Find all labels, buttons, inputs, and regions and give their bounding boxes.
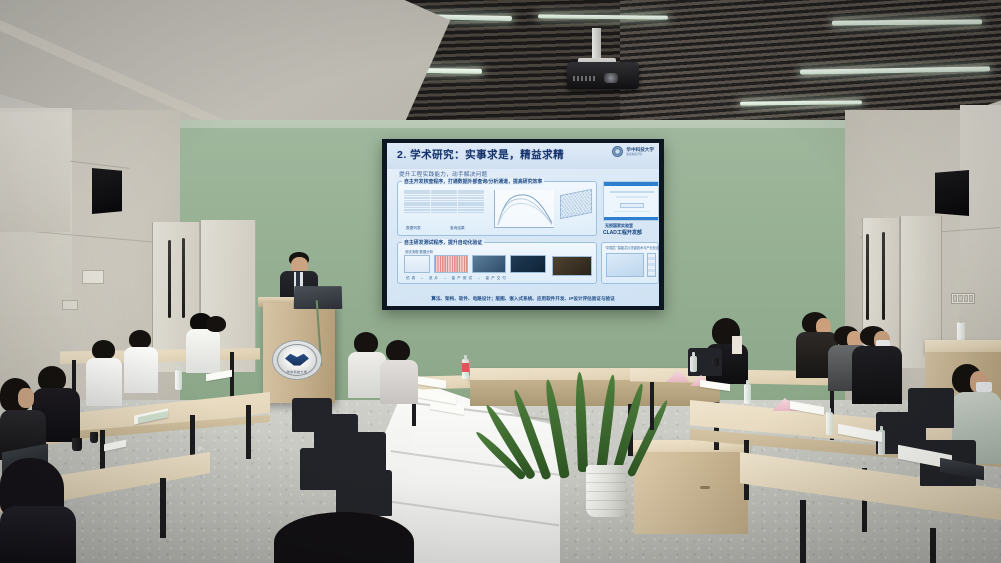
wall-speaker-left — [92, 168, 122, 214]
attendee-torso — [380, 360, 418, 404]
lectern-emblem: 华中科技大学 — [272, 340, 322, 380]
attendee-torso — [124, 347, 158, 393]
slide-table-caption-1: 数据列表 — [406, 226, 421, 231]
attendee — [852, 326, 904, 402]
slide-table-caption-2: 查询结果 — [450, 226, 465, 231]
slide-flow-labels: 仿真 → 流片 → 量产测试 → 量产交付 — [406, 276, 508, 281]
face-mask — [976, 382, 992, 392]
slide-footer: 算法、架构、软件、电路设计；版图、嵌入式系统、应用软件开发、IP设计评估验证与验… — [387, 296, 659, 302]
paper-cup[interactable] — [712, 358, 719, 367]
attendee — [124, 330, 160, 392]
attendee-torso — [852, 346, 902, 404]
light-switch-panel[interactable] — [951, 293, 975, 304]
bottle-label-red — [462, 363, 469, 372]
plant-pot-ridges — [586, 465, 626, 517]
projector-vent — [573, 76, 595, 81]
university-school: 集成电路学院 — [626, 153, 654, 156]
wall-outlet-plate[interactable] — [82, 270, 104, 284]
attendee-head — [18, 388, 34, 408]
slide-title: 2. 学术研究：实事求是，精益求精 — [397, 147, 564, 162]
slide-thumb-equipment — [472, 255, 506, 273]
paper-cup[interactable] — [90, 432, 98, 443]
water-bottle[interactable] — [175, 370, 182, 390]
projector-lens — [604, 73, 618, 83]
table-leg — [930, 528, 936, 563]
slide-sidebar-card — [603, 181, 659, 221]
attendee-torso — [86, 358, 122, 406]
attendee-torso — [0, 506, 76, 563]
hand-sanitizer-bottle[interactable] — [957, 322, 965, 342]
water-bottle[interactable] — [690, 356, 697, 372]
light-switch[interactable] — [964, 295, 968, 302]
slide-thumb-layout — [434, 255, 468, 273]
card-bottom-bar — [604, 217, 658, 220]
door-handle[interactable] — [182, 238, 185, 318]
light-switch[interactable] — [969, 295, 973, 302]
attendee — [380, 340, 420, 400]
plant-pot — [586, 465, 626, 517]
light-switch[interactable] — [958, 295, 962, 302]
center-back-table-apron — [470, 380, 720, 406]
slide-panel-2: 自主研发测试程序，提升自动化验证 测试流程 数据分析 仿真 → 流片 → 量产测… — [397, 242, 597, 284]
table-leg — [650, 382, 654, 430]
slide-thumb-lab — [552, 256, 592, 276]
center-cabinet-body — [634, 452, 748, 534]
attendee — [86, 340, 124, 404]
attendee-collar — [732, 336, 742, 354]
projection-screen-frame: 2. 学术研究：实事求是，精益求精 华中科技大学 集成电路学院 提升工程实践能力… — [382, 139, 664, 310]
door-handle[interactable] — [168, 240, 171, 318]
slide-sidebar-caption-line2: CLAD工程开发部 — [603, 229, 642, 236]
door-handle[interactable] — [882, 232, 885, 320]
table-leg — [160, 478, 166, 538]
light-switch[interactable] — [953, 295, 957, 302]
attendee — [196, 316, 236, 372]
university-seal-icon — [612, 146, 623, 157]
slide-panel-2-side: "中国芯" 智能芯片关键技术与产业化应用 — [601, 242, 659, 284]
university-name: 华中科技大学 — [626, 147, 654, 152]
attendee-hair — [274, 512, 414, 563]
slide-data-table — [404, 190, 484, 213]
water-bottle[interactable] — [744, 384, 751, 404]
card-top-bar — [604, 182, 658, 186]
slide-curve-chart — [494, 190, 554, 228]
projector-mount-pole — [592, 28, 601, 62]
slide-subtitle: 提升工程实践能力，动手解决问题 — [399, 170, 487, 178]
slide-panel-1-heading: 自主开发核查程序，打通数据外部查询/分析通道，提高研究效率 — [402, 178, 544, 185]
left-upper-panel — [0, 112, 70, 232]
lecture-room-photo: 2. 学术研究：实事求是，精益求精 华中科技大学 集成电路学院 提升工程实践能力… — [0, 0, 1001, 563]
slide-thumb-code — [404, 255, 430, 273]
emblem-text: 华中科技大学 — [287, 370, 307, 374]
attendee-hair — [354, 332, 378, 354]
attendee-hair — [386, 340, 410, 362]
foreground-attendee — [274, 512, 414, 563]
attendee-hair — [92, 340, 115, 360]
slide-panel-1: 自主开发核查程序，打通数据外部查询/分析通道，提高研究效率 数据列表 查询结果 — [397, 181, 597, 236]
door-handle[interactable] — [866, 234, 869, 320]
curve-chart-svg — [495, 190, 555, 228]
slide-mesh-surface — [560, 189, 592, 219]
water-bottle[interactable] — [826, 412, 833, 435]
projection-screen[interactable]: 2. 学术研究：实事求是，精益求精 华中科技大学 集成电路学院 提升工程实践能力… — [387, 143, 659, 306]
wall-speaker-right — [935, 170, 969, 216]
university-logo: 华中科技大学 集成电路学院 — [612, 146, 654, 157]
chair[interactable] — [336, 470, 392, 516]
wall-outlet-plate[interactable] — [62, 300, 78, 310]
slide-panel-2-heading: 自主研发测试程序，提升自动化验证 — [402, 239, 484, 246]
table-leg — [246, 405, 251, 459]
attendee-hair — [206, 316, 226, 332]
paper-cup[interactable] — [72, 438, 82, 451]
slide-panel2-mini-label: 测试流程 数据分析 — [405, 249, 433, 254]
slide-panel2-side-heading: "中国芯" 智能芯片关键技术与产业化应用 — [605, 245, 659, 250]
cabinet-handle[interactable] — [700, 486, 710, 489]
foreground-attendee — [0, 458, 76, 563]
university-logo-text: 华中科技大学 集成电路学院 — [626, 147, 654, 156]
slide-thumb-monitor — [510, 255, 546, 273]
table-leg — [800, 500, 806, 563]
